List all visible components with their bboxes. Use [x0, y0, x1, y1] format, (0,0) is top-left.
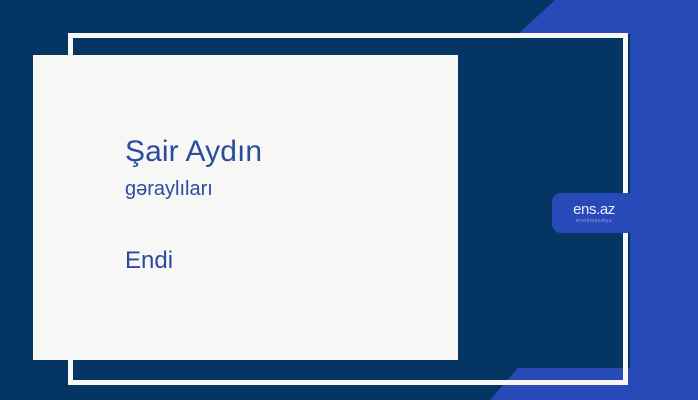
status-text: Endi — [125, 247, 440, 276]
page-subtitle: gəraylıları — [125, 177, 440, 201]
ensaz-logo-wordmark: ens.az — [573, 202, 615, 217]
content-card: Şair Aydın gəraylıları Endi — [33, 55, 458, 360]
page-title: Şair Aydın — [125, 135, 440, 169]
ensaz-logo-tagline: ensiklopediya — [576, 219, 612, 224]
ensaz-logo-badge[interactable]: ens.az ensiklopediya — [552, 193, 636, 233]
slide-canvas: Şair Aydın gəraylıları Endi ens.az ensik… — [0, 0, 698, 400]
content-card-body: Şair Aydın gəraylıları Endi — [125, 135, 440, 275]
background-accent-right — [630, 0, 698, 400]
